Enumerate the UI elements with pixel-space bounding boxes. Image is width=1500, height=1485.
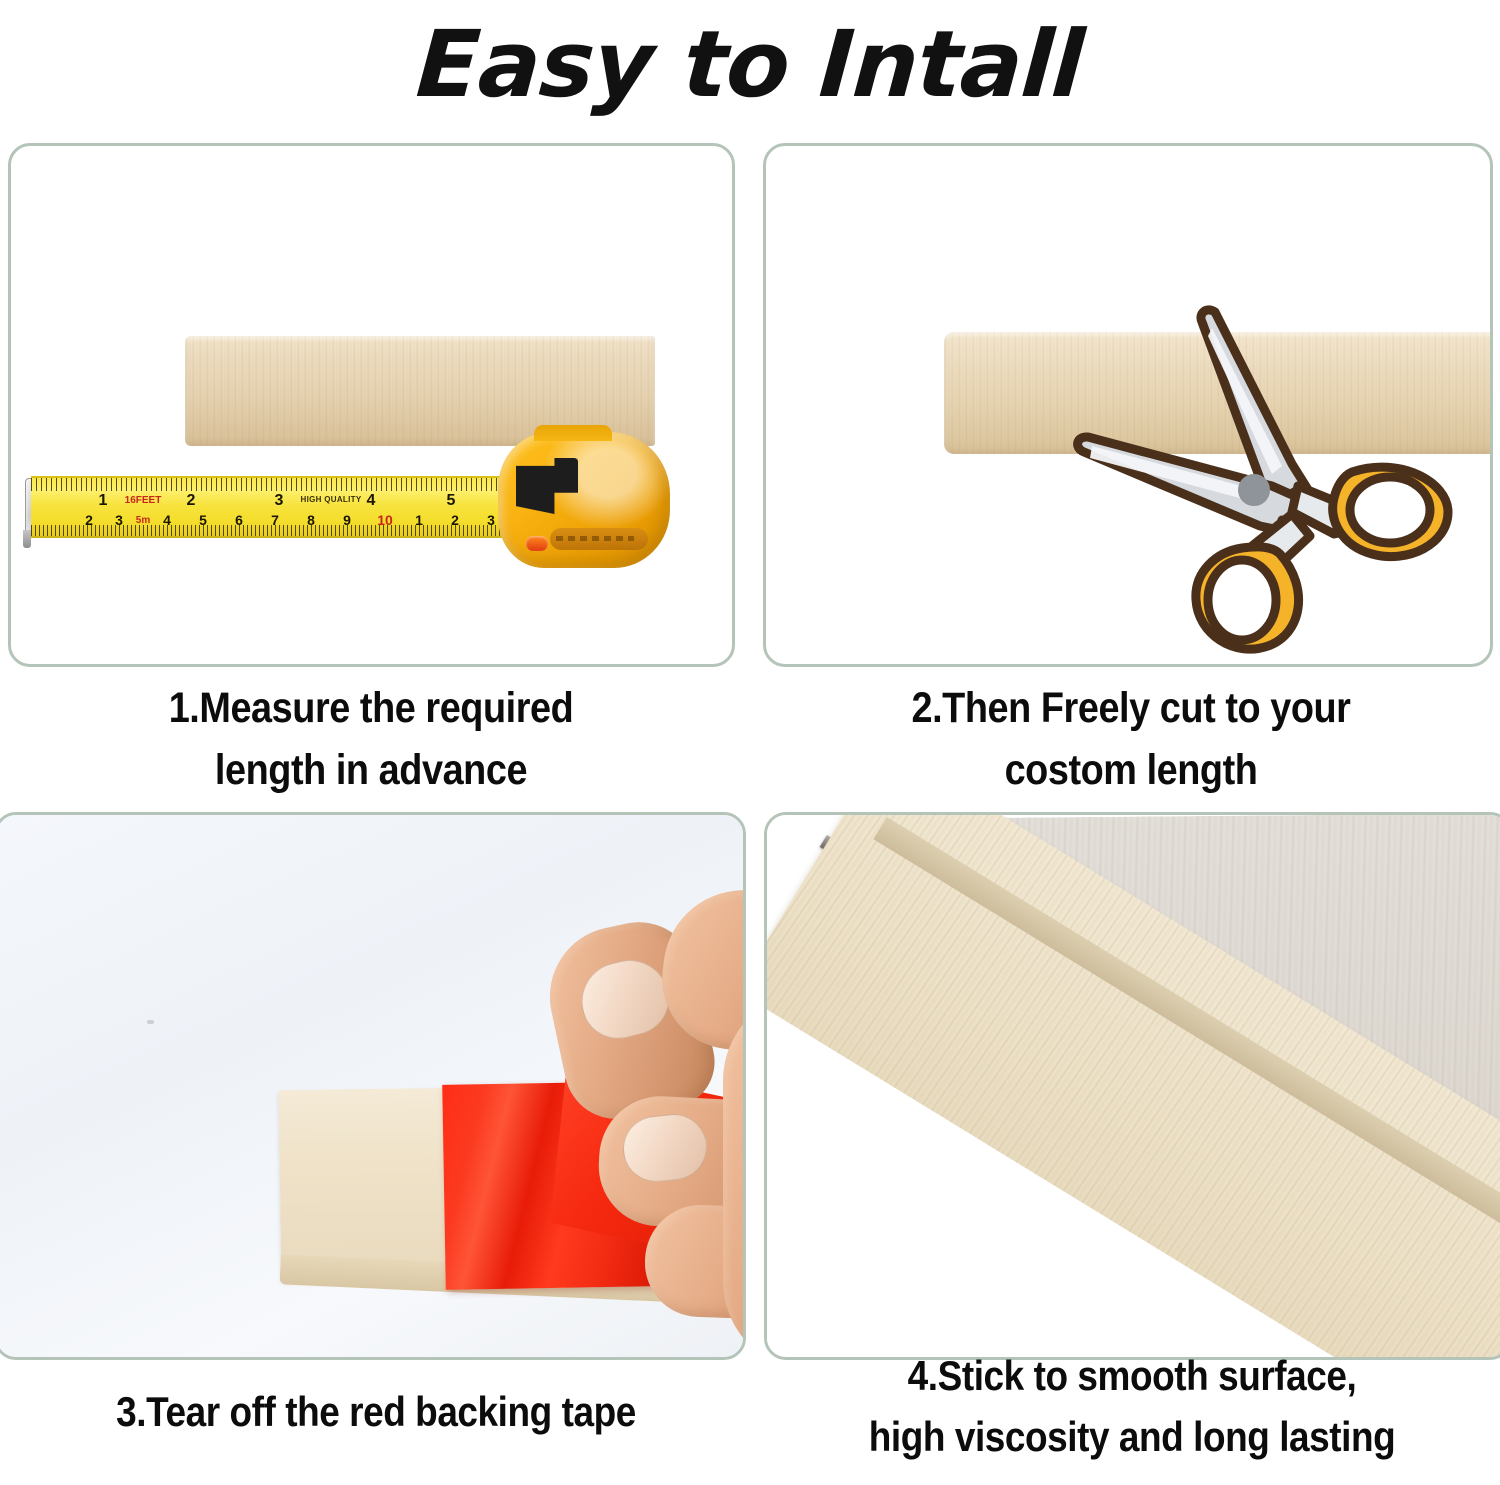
tape-metric-mark: 5 [199, 512, 207, 528]
background-speck [147, 1020, 154, 1024]
tape-measure-lock-lever [516, 458, 578, 514]
tape-metric-mark: 7 [271, 512, 279, 528]
panel-peel [0, 812, 746, 1360]
tape-imperial-mark: 4 [367, 492, 376, 510]
caption-step-2-line-1: 2.Then Freely cut to your [813, 677, 1448, 739]
tape-metric-mark: 1 [415, 512, 423, 528]
caption-step-1-line-1: 1.Measure the required [53, 677, 688, 739]
tape-imperial-scale: 1 16FEET 2 3 HIGH QUALITY 4 5 6 [31, 491, 551, 511]
tape-metric-mark: 9 [343, 512, 351, 528]
tape-metric-mark: 2 [451, 512, 459, 528]
panel-stick [764, 812, 1500, 1360]
hand [537, 935, 746, 1360]
page-title-bar: Easy to Intall [0, 0, 1500, 130]
tape-measure-hook-lip [23, 530, 31, 548]
tape-measure-case [498, 432, 670, 568]
tape-meters-label: 5m [136, 515, 150, 526]
tape-metric-mark: 8 [307, 512, 315, 528]
caption-step-4-line-2: high viscosity and long lasting [808, 1407, 1456, 1468]
caption-step-1: 1.Measure the required length in advance [53, 677, 688, 802]
caption-step-3-line-1: 3.Tear off the red backing tape [45, 1382, 707, 1443]
caption-step-3: 3.Tear off the red backing tape [45, 1382, 707, 1443]
tape-metric-scale: 2 3 5m 4 5 6 7 8 9 10 1 2 3 4 [31, 511, 551, 529]
tape-metric-mark: 10 [377, 512, 393, 528]
tape-imperial-mark: 3 [275, 492, 284, 510]
caption-step-2-line-2: costom length [813, 739, 1448, 801]
panel-measure: 1 16FEET 2 3 HIGH QUALITY 4 5 6 2 3 5m 4… [8, 143, 735, 667]
tape-imperial-mark: 5 [447, 492, 456, 510]
tape-feet-label: 16FEET [125, 495, 162, 506]
caption-step-4: 4.Stick to smooth surface, high viscosit… [808, 1346, 1456, 1468]
caption-step-4-line-1: 4.Stick to smooth surface, [808, 1346, 1456, 1407]
caption-step-2: 2.Then Freely cut to your costom length [813, 677, 1448, 802]
tape-measure-brand-plate [550, 528, 648, 550]
tape-metric-mark: 2 [85, 512, 93, 528]
tape-measure-case-top [534, 425, 612, 441]
tape-quality-label: HIGH QUALITY [301, 495, 362, 504]
tape-metric-mark: 3 [115, 512, 123, 528]
tape-imperial-mark: 1 [99, 492, 108, 510]
tape-metric-mark: 4 [163, 512, 171, 528]
tape-imperial-mark: 2 [187, 492, 196, 510]
tape-measure-blade: 1 16FEET 2 3 HIGH QUALITY 4 5 6 2 3 5m 4… [31, 476, 551, 538]
page-title: Easy to Intall [414, 19, 1086, 111]
tape-measure-release-button [526, 536, 548, 551]
tape-metric-mark: 3 [487, 512, 495, 528]
scissors-icon [1066, 296, 1466, 656]
caption-step-1-line-2: length in advance [53, 739, 688, 801]
tape-metric-mark: 6 [235, 512, 243, 528]
panel-cut [763, 143, 1493, 667]
